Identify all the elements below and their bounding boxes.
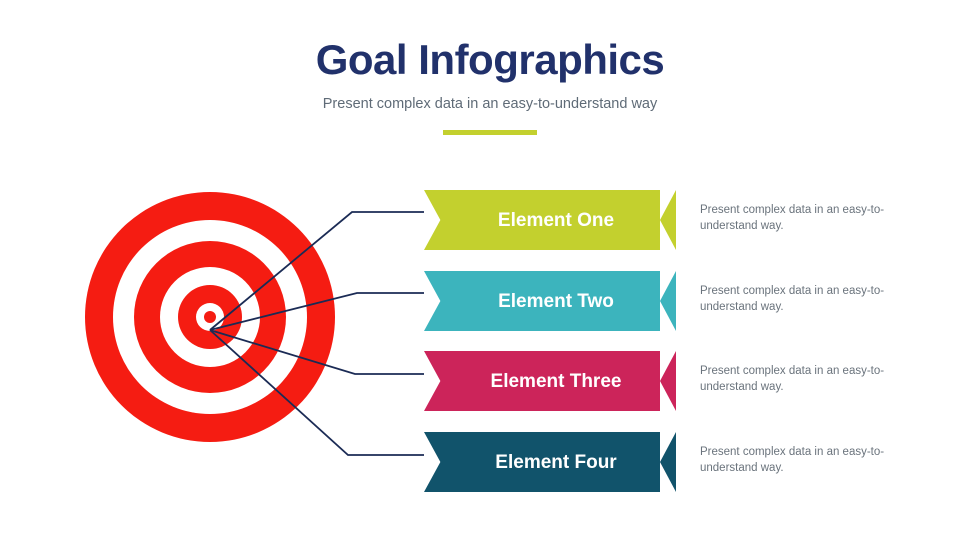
slide-canvas: Goal Infographics Present complex data i… xyxy=(0,0,980,551)
element-label: Element Two xyxy=(486,292,614,311)
element-row: Element Four Present complex data in an … xyxy=(424,432,980,512)
page-subtitle: Present complex data in an easy-to-under… xyxy=(0,96,980,112)
element-banner-three[interactable]: Element Three xyxy=(424,351,676,411)
element-label: Element Three xyxy=(479,372,622,391)
element-description: Present complex data in an easy-to-under… xyxy=(700,283,916,316)
element-banner-four[interactable]: Element Four xyxy=(424,432,676,492)
bullseye-target-icon xyxy=(85,192,345,442)
element-description: Present complex data in an easy-to-under… xyxy=(700,444,916,477)
element-row: Element Three Present complex data in an… xyxy=(424,351,980,431)
element-banner-two[interactable]: Element Two xyxy=(424,271,676,331)
element-label: Element Four xyxy=(483,453,616,472)
element-banner-one[interactable]: Element One xyxy=(424,190,676,250)
element-row: Element Two Present complex data in an e… xyxy=(424,271,980,351)
accent-divider xyxy=(443,130,537,135)
page-title: Goal Infographics xyxy=(0,38,980,82)
element-description: Present complex data in an easy-to-under… xyxy=(700,202,916,235)
element-label: Element One xyxy=(486,211,614,230)
element-row: Element One Present complex data in an e… xyxy=(424,190,980,270)
element-description: Present complex data in an easy-to-under… xyxy=(700,363,916,396)
